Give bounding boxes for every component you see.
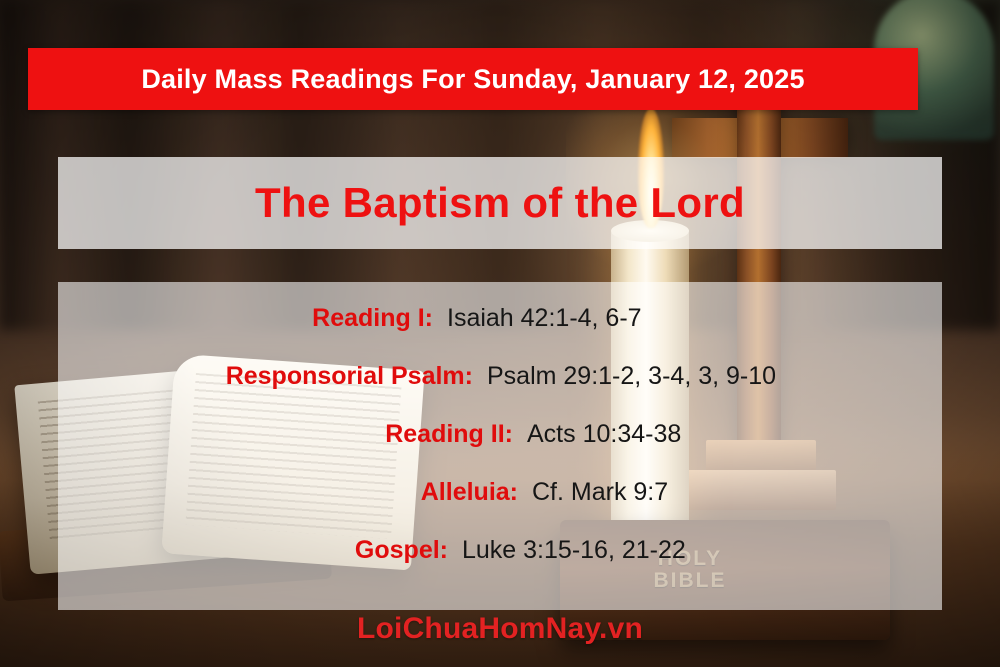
reading-label: Reading I: <box>233 304 447 333</box>
title-bar: Daily Mass Readings For Sunday, January … <box>28 48 918 110</box>
site-watermark: LoiChuaHomNay.vn <box>0 612 1000 646</box>
reading-label: Alleluia: <box>268 478 532 507</box>
reading-value: Acts 10:34-38 <box>527 420 787 449</box>
reading-row: Reading I: Isaiah 42:1-4, 6-7 <box>58 304 942 362</box>
reading-label: Gospel: <box>218 536 462 565</box>
reading-value: Isaiah 42:1-4, 6-7 <box>447 304 767 333</box>
reading-row: Responsorial Psalm: Psalm 29:1-2, 3-4, 3… <box>58 362 942 420</box>
reading-value: Psalm 29:1-2, 3-4, 3, 9-10 <box>487 362 867 391</box>
reading-row: Alleluia: Cf. Mark 9:7 <box>58 478 942 536</box>
feast-bar: The Baptism of the Lord <box>58 157 942 249</box>
reading-label: Responsorial Psalm: <box>133 362 487 391</box>
reading-row: Reading II: Acts 10:34-38 <box>58 420 942 478</box>
page-title: Daily Mass Readings For Sunday, January … <box>141 64 804 95</box>
readings-graphic: HOLY BIBLE Daily Mass Readings For Sunda… <box>0 0 1000 667</box>
reading-value: Luke 3:15-16, 21-22 <box>462 536 782 565</box>
reading-value: Cf. Mark 9:7 <box>532 478 732 507</box>
reading-label: Reading II: <box>213 420 527 449</box>
feast-name: The Baptism of the Lord <box>255 179 745 227</box>
reading-row: Gospel: Luke 3:15-16, 21-22 <box>58 536 942 594</box>
readings-panel: Reading I: Isaiah 42:1-4, 6-7 Responsori… <box>58 282 942 610</box>
